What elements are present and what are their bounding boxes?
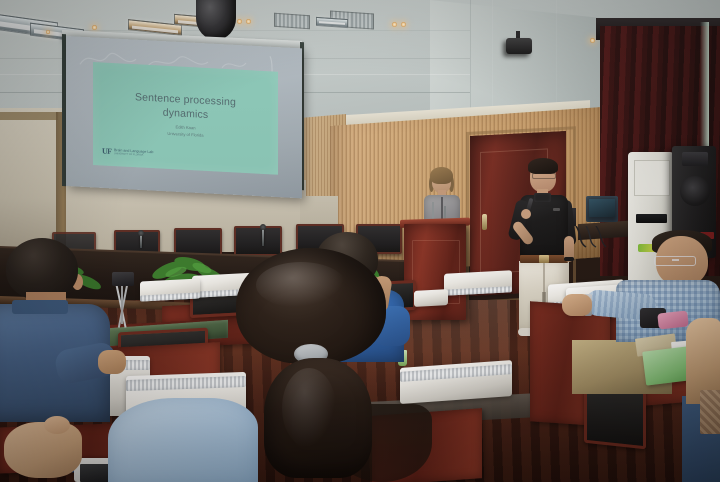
pa-speaker-woofer <box>680 176 710 206</box>
camera-tripod <box>104 272 140 328</box>
audience-bottom-left-person <box>8 392 248 482</box>
warm-downlight <box>401 22 406 27</box>
ceiling-panel-line <box>556 0 557 118</box>
ceiling-panel-line <box>492 0 493 110</box>
hair <box>430 167 453 184</box>
ceiling-corner <box>470 0 471 124</box>
polo-collar <box>12 300 68 314</box>
glasses <box>532 173 556 179</box>
warm-downlight <box>237 19 242 24</box>
warm-downlight <box>392 22 397 27</box>
hand <box>4 422 82 478</box>
av-monitor-screen <box>589 199 615 217</box>
slide-logo: UF Brain and Language Lab UNIVERSITY OF … <box>102 146 153 158</box>
hand <box>521 209 531 219</box>
ac-vent <box>634 160 670 196</box>
shirt <box>108 398 258 482</box>
wall-trim <box>0 112 58 120</box>
warm-downlight <box>590 38 595 43</box>
door-handle[interactable] <box>482 214 487 230</box>
slide: Sentence processing dynamics Edith Kaan … <box>93 62 278 175</box>
pink-bag <box>657 310 689 329</box>
slide-logo-textblock: Brain and Language Lab UNIVERSITY OF FLO… <box>114 148 153 158</box>
pa-speaker-horn <box>682 152 708 166</box>
air-grille <box>274 13 310 30</box>
tripod-leg <box>121 284 123 324</box>
warm-downlight <box>46 30 50 34</box>
hair-highlight <box>282 368 336 448</box>
wall-spotlight <box>506 38 532 54</box>
belt-buckle <box>539 255 549 263</box>
table-microphone <box>262 228 264 246</box>
glasses <box>654 256 696 266</box>
ac-display <box>636 214 667 223</box>
hair-highlight <box>256 262 346 308</box>
polo-collar <box>534 193 551 202</box>
warm-downlight <box>92 25 97 30</box>
camera-head <box>112 272 134 286</box>
thumb <box>44 416 70 434</box>
uf-logo-mark: UF <box>102 146 111 155</box>
hair <box>528 158 558 174</box>
lab-university: UNIVERSITY OF FLORIDA <box>114 152 153 157</box>
head <box>6 238 78 300</box>
hand <box>562 294 592 316</box>
hand <box>98 350 126 374</box>
wristwatch <box>564 257 574 261</box>
woven-handbag <box>700 390 720 434</box>
slide-title: Sentence processing dynamics <box>93 89 278 126</box>
photograph-lecture-hall: Sentence processing dynamics Edith Kaan … <box>0 0 720 482</box>
glasses-bridge <box>672 259 679 261</box>
table-microphone <box>140 234 142 248</box>
polo-logo <box>553 208 560 211</box>
warm-downlight <box>246 19 251 24</box>
